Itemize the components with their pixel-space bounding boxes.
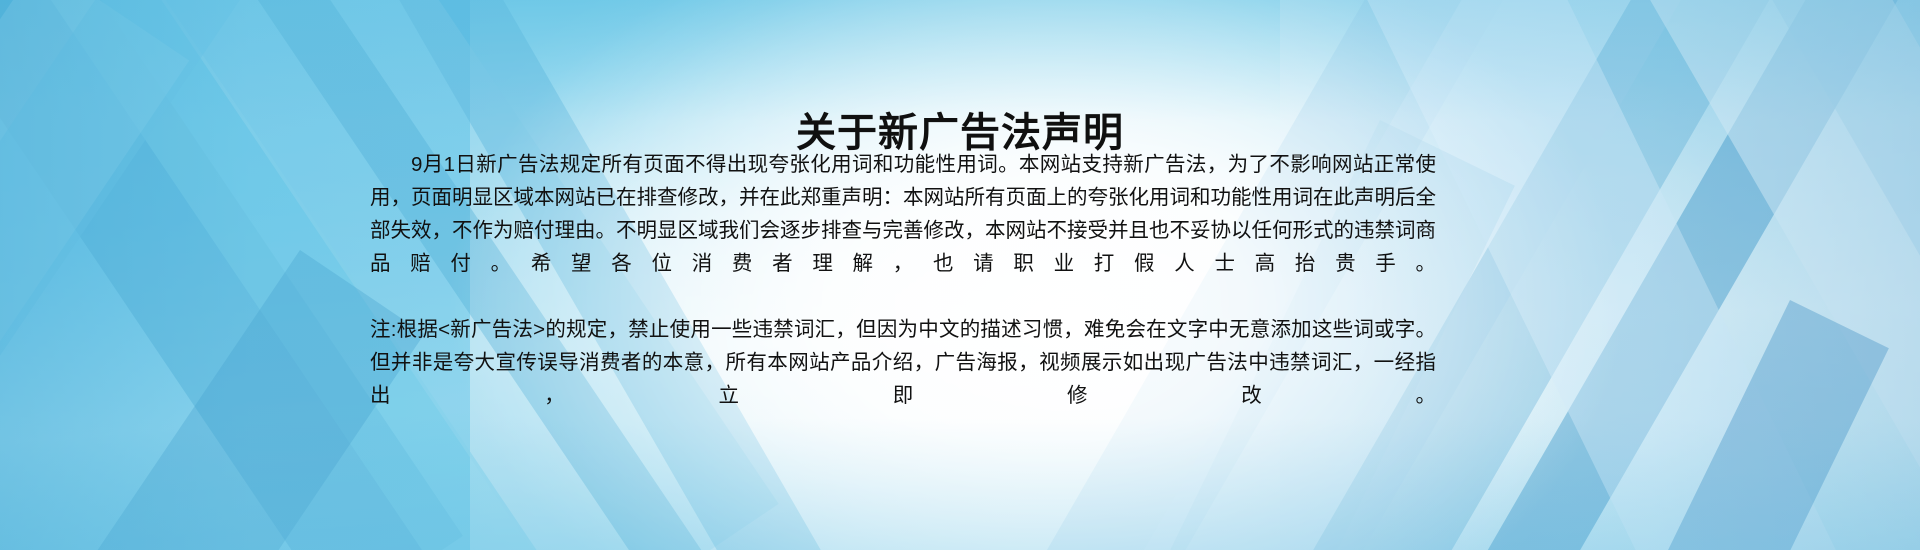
banner-content: 关于新广告法声明 9月1日新广告法规定所有页面不得出现夸张化用词和功能性用词。本… (0, 0, 1920, 550)
statement-body: 9月1日新广告法规定所有页面不得出现夸张化用词和功能性用词。本网站支持新广告法，… (370, 148, 1436, 445)
advertising-law-statement-banner: 关于新广告法声明 9月1日新广告法规定所有页面不得出现夸张化用词和功能性用词。本… (0, 0, 1920, 550)
statement-paragraph-2: 注:根据<新广告法>的规定，禁止使用一些违禁词汇，但因为中文的描述习惯，难免会在… (370, 313, 1436, 445)
statement-paragraph-1: 9月1日新广告法规定所有页面不得出现夸张化用词和功能性用词。本网站支持新广告法，… (370, 148, 1436, 313)
